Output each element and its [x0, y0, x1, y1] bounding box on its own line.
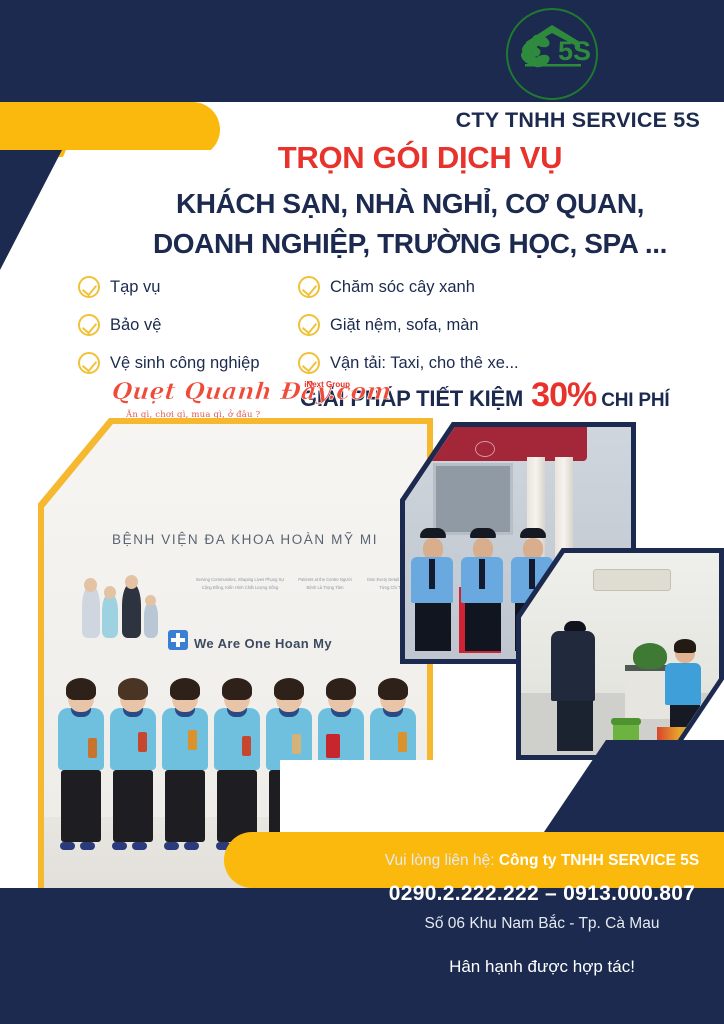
- company-name: CTY TNHH SERVICE 5S: [400, 108, 700, 133]
- staff-member: [214, 682, 260, 842]
- potted-plant: [633, 643, 667, 669]
- footer-contact-line: Vui lòng liên hệ: Công ty TNHH SERVICE 5…: [360, 852, 724, 870]
- service-row: Bảo vệ Giặt nệm, sofa, màn: [78, 306, 678, 344]
- footer-contact-company: Công ty TNHH SERVICE 5S: [499, 852, 699, 869]
- footer-phone-numbers[interactable]: 0290.2.222.222 – 0913.000.807: [360, 882, 724, 906]
- hoan-my-logo-icon: [168, 630, 188, 650]
- company-logo: 5S: [506, 8, 616, 100]
- footer-address: Số 06 Khu Nam Bắc - Tp. Cà Mau: [360, 915, 724, 933]
- service-row: Tạp vụ Chăm sóc cây xanh: [78, 268, 678, 306]
- check-circle-icon: [298, 276, 320, 298]
- staff-member: [58, 682, 104, 842]
- headline-red: TRỌN GÓI DỊCH VỤ: [120, 140, 720, 176]
- air-conditioner: [593, 569, 671, 591]
- hospital-micro-text: Serving Communities, Shaping Lives Phụng…: [194, 576, 286, 591]
- footer-thanks: Hân hạnh được hợp tác!: [360, 957, 724, 977]
- security-guard: [461, 528, 505, 651]
- service-item: Giặt nệm, sofa, màn: [298, 314, 628, 336]
- service-item: Vệ sinh công nghiệp: [78, 352, 298, 374]
- check-circle-icon: [78, 352, 100, 374]
- logo-5s-text: 5S: [558, 36, 591, 66]
- flyer-poster: 5S CTY TNHH SERVICE 5S TRỌN GÓI DỊCH VỤ …: [0, 0, 724, 1024]
- office-cleaning-photo: [516, 548, 724, 760]
- headline-navy-line-2: DOANH NGHIỆP, TRƯỜNG HỌC, SPA ...: [100, 228, 720, 260]
- promo-percent: 30%: [531, 376, 596, 415]
- service-item: Chăm sóc cây xanh: [298, 276, 628, 298]
- staff-member: [162, 682, 208, 842]
- footer-contact-prefix: Vui lòng liên hệ:: [385, 852, 495, 869]
- headline-navy-line-1: KHÁCH SẠN, NHÀ NGHỈ, CƠ QUAN,: [100, 188, 720, 220]
- service-label: Tạp vụ: [110, 278, 160, 297]
- service-label: Giặt nệm, sofa, màn: [330, 316, 479, 335]
- service-label: Chăm sóc cây xanh: [330, 278, 475, 297]
- service-item: Tạp vụ: [78, 276, 298, 298]
- check-circle-icon: [78, 314, 100, 336]
- check-circle-icon: [78, 276, 100, 298]
- service-item: Bảo vệ: [78, 314, 298, 336]
- watermark-group: iNext Group: [304, 380, 350, 389]
- hospital-family-illustration: [80, 572, 170, 667]
- house-clover-logo-icon: 5S: [506, 8, 616, 100]
- hoan-my-slogan: We Are One Hoan My: [194, 636, 332, 651]
- services-list: Tạp vụ Chăm sóc cây xanh Bảo vệ Giặt nệm…: [78, 268, 678, 382]
- hospital-banner-text: BỆNH VIỆN ĐA KHOA HOÀN MỸ MI: [112, 532, 427, 547]
- service-item: Vận tải: Taxi, cho thê xe...: [298, 352, 628, 374]
- staff-member: [110, 682, 156, 842]
- service-label: Vận tải: Taxi, cho thê xe...: [330, 354, 519, 373]
- promo-suffix: CHI PHÍ: [601, 390, 669, 412]
- check-circle-icon: [298, 352, 320, 374]
- service-label: Vệ sinh công nghiệp: [110, 354, 260, 373]
- hospital-micro-text: Patients at the Centre Người Bệnh Là Trọ…: [294, 576, 356, 591]
- service-label: Bảo vệ: [110, 316, 161, 335]
- check-circle-icon: [298, 314, 320, 336]
- footer-contact: Vui lòng liên hệ: Công ty TNHH SERVICE 5…: [360, 852, 724, 977]
- security-guard: [411, 528, 455, 651]
- cleaning-worker: [551, 621, 599, 751]
